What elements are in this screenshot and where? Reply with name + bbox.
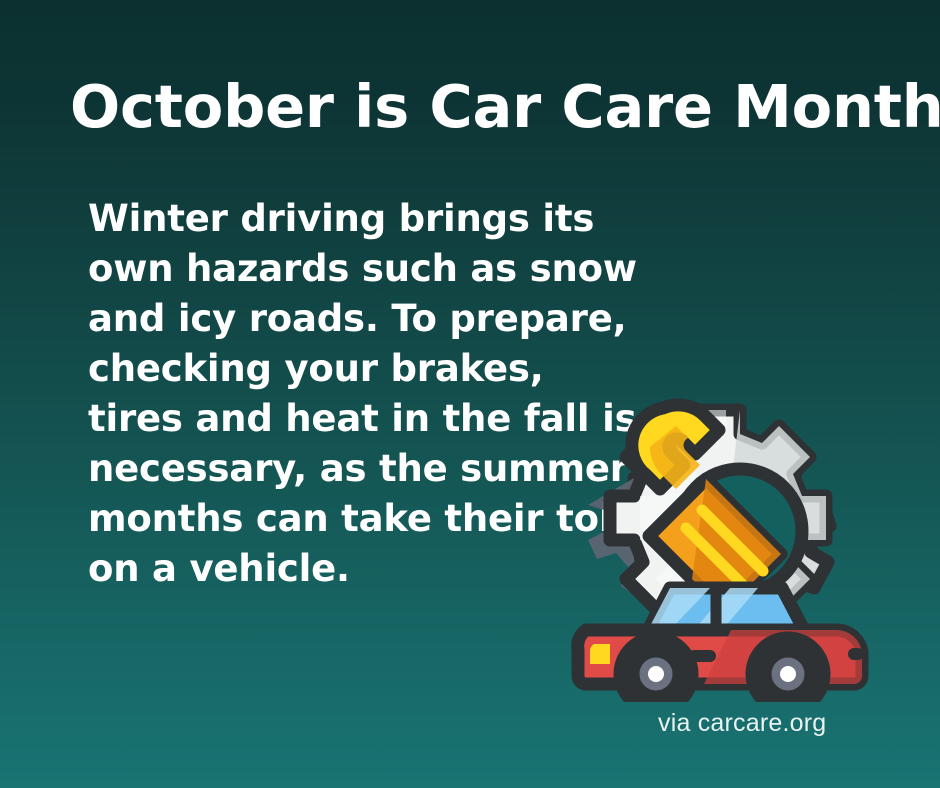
body-line: Winter driving brings its [88, 194, 588, 244]
body-line: on a vehicle. [88, 544, 588, 594]
body-line: and icy roads. To prepare, [88, 294, 588, 344]
body-line: checking your brakes, [88, 344, 588, 394]
car-wheel [620, 638, 692, 702]
car-repair-illustration [556, 392, 872, 702]
body-line: months can take their toll [88, 494, 588, 544]
source-attribution: via carcare.org [658, 709, 826, 738]
poster-canvas: October is Car Care Month Winter driving… [0, 0, 940, 788]
car-wheel [752, 638, 824, 702]
page-title: October is Car Care Month [70, 76, 880, 138]
body-line: necessary, as the summer [88, 444, 588, 494]
body-line: tires and heat in the fall is [88, 394, 588, 444]
car-shape [578, 588, 864, 702]
body-paragraph: Winter driving brings its own hazards su… [88, 194, 588, 594]
body-line: own hazards such as snow [88, 244, 588, 294]
